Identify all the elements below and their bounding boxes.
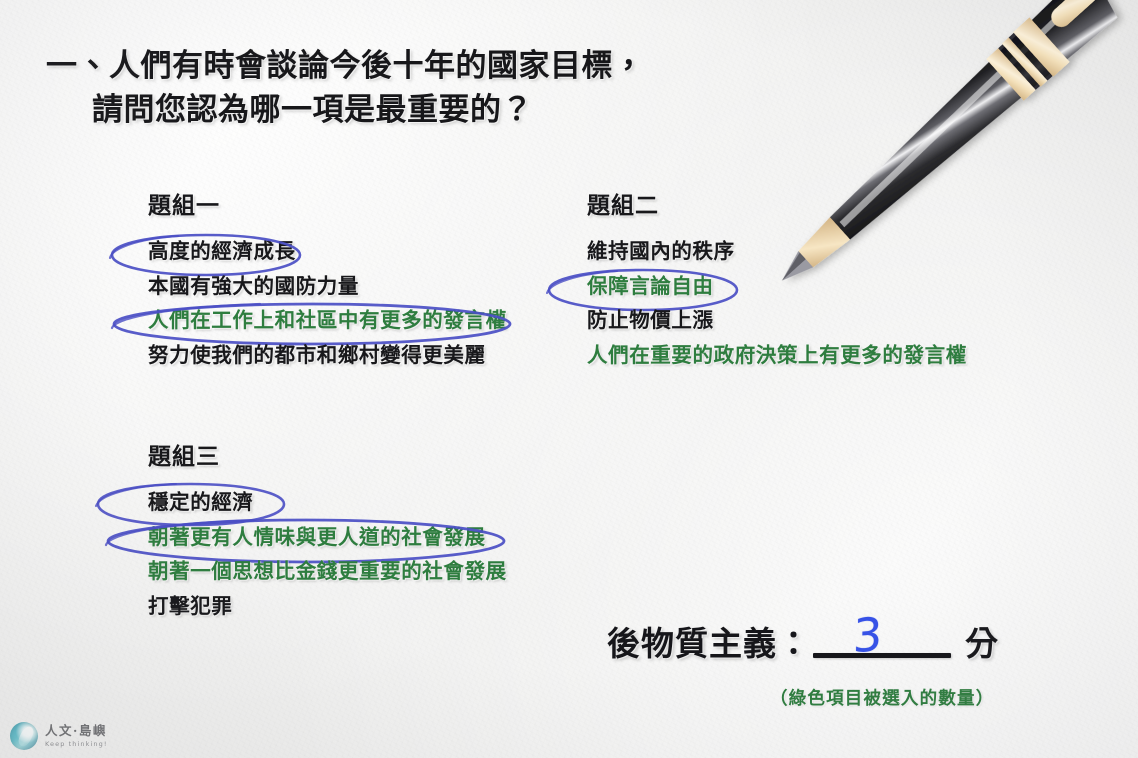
score-handwritten-value: 3	[852, 611, 883, 659]
option-g3-1[interactable]: 穩定的經濟	[118, 485, 507, 520]
option-g3-3[interactable]: 朝著一個思想比金錢更重要的社會發展	[118, 554, 507, 589]
group-two-heading: 題組二	[557, 186, 967, 220]
score-underline	[813, 653, 951, 658]
group-three: 題組三 穩定的經濟 朝著更有人情味與更人道的社會發展 朝著一個思想比金錢更重要的…	[118, 437, 507, 623]
group-three-heading: 題組三	[118, 437, 507, 471]
group-two: 題組二 維持國內的秩序 保障言論自由 防止物價上漲 人們在重要的政府決策上有更多…	[557, 186, 967, 372]
option-g2-4-label: 人們在重要的政府決策上有更多的發言權	[587, 343, 967, 367]
option-g1-4-label: 努力使我們的都市和鄉村變得更美麗	[148, 343, 486, 367]
option-g2-2-label: 保障言論自由	[587, 274, 714, 298]
score-note: （綠色項目被選入的數量）	[770, 685, 994, 710]
option-g2-1[interactable]: 維持國內的秩序	[557, 234, 967, 269]
option-g1-3[interactable]: 人們在工作上和社區中有更多的發言權	[118, 303, 507, 338]
option-g2-3[interactable]: 防止物價上漲	[557, 303, 967, 338]
score-unit: 分	[965, 617, 998, 665]
option-g1-4[interactable]: 努力使我們的都市和鄉村變得更美麗	[118, 338, 507, 373]
option-g3-2-label: 朝著更有人情味與更人道的社會發展	[148, 525, 486, 549]
question-line-2: 請問您認為哪一項是最重要的？	[46, 88, 806, 132]
score-row: 後物質主義： 3 分	[607, 617, 998, 665]
option-g2-2[interactable]: 保障言論自由	[557, 269, 967, 304]
slide-canvas: 一、人們有時會談論今後十年的國家目標， 請問您認為哪一項是最重要的？ 題組一 高…	[0, 0, 1138, 758]
option-g3-1-label: 穩定的經濟	[148, 490, 254, 514]
option-g1-2-label: 本國有強大的國防力量	[148, 274, 359, 298]
option-g1-3-label: 人們在工作上和社區中有更多的發言權	[148, 308, 507, 332]
question-line-1: 一、人們有時會談論今後十年的國家目標，	[46, 48, 645, 84]
option-g3-4[interactable]: 打擊犯罪	[118, 589, 507, 624]
brand-logo: 人文·島嶼 Keep thinking!	[10, 722, 108, 750]
group-one: 題組一 高度的經濟成長 本國有強大的國防力量 人們在工作上和社區中有更多的發言權…	[118, 186, 507, 372]
option-g1-1-label: 高度的經濟成長	[148, 239, 296, 263]
option-g3-4-label: 打擊犯罪	[148, 594, 232, 618]
option-g3-3-label: 朝著一個思想比金錢更重要的社會發展	[148, 559, 507, 583]
logo-name: 人文·島嶼	[45, 725, 108, 738]
logo-mark-icon	[10, 722, 38, 750]
group-one-heading: 題組一	[118, 186, 507, 220]
option-g1-2[interactable]: 本國有強大的國防力量	[118, 269, 507, 304]
page-title: 一、人們有時會談論今後十年的國家目標， 請問您認為哪一項是最重要的？	[46, 44, 806, 132]
option-g2-3-label: 防止物價上漲	[587, 308, 714, 332]
option-g1-1[interactable]: 高度的經濟成長	[118, 234, 507, 269]
logo-tagline: Keep thinking!	[45, 741, 108, 748]
score-label: 後物質主義：	[607, 617, 811, 665]
option-g2-1-label: 維持國內的秩序	[587, 239, 735, 263]
option-g2-4[interactable]: 人們在重要的政府決策上有更多的發言權	[557, 338, 967, 373]
score-blank-field[interactable]: 3	[813, 618, 951, 662]
option-g3-2[interactable]: 朝著更有人情味與更人道的社會發展	[118, 520, 507, 555]
